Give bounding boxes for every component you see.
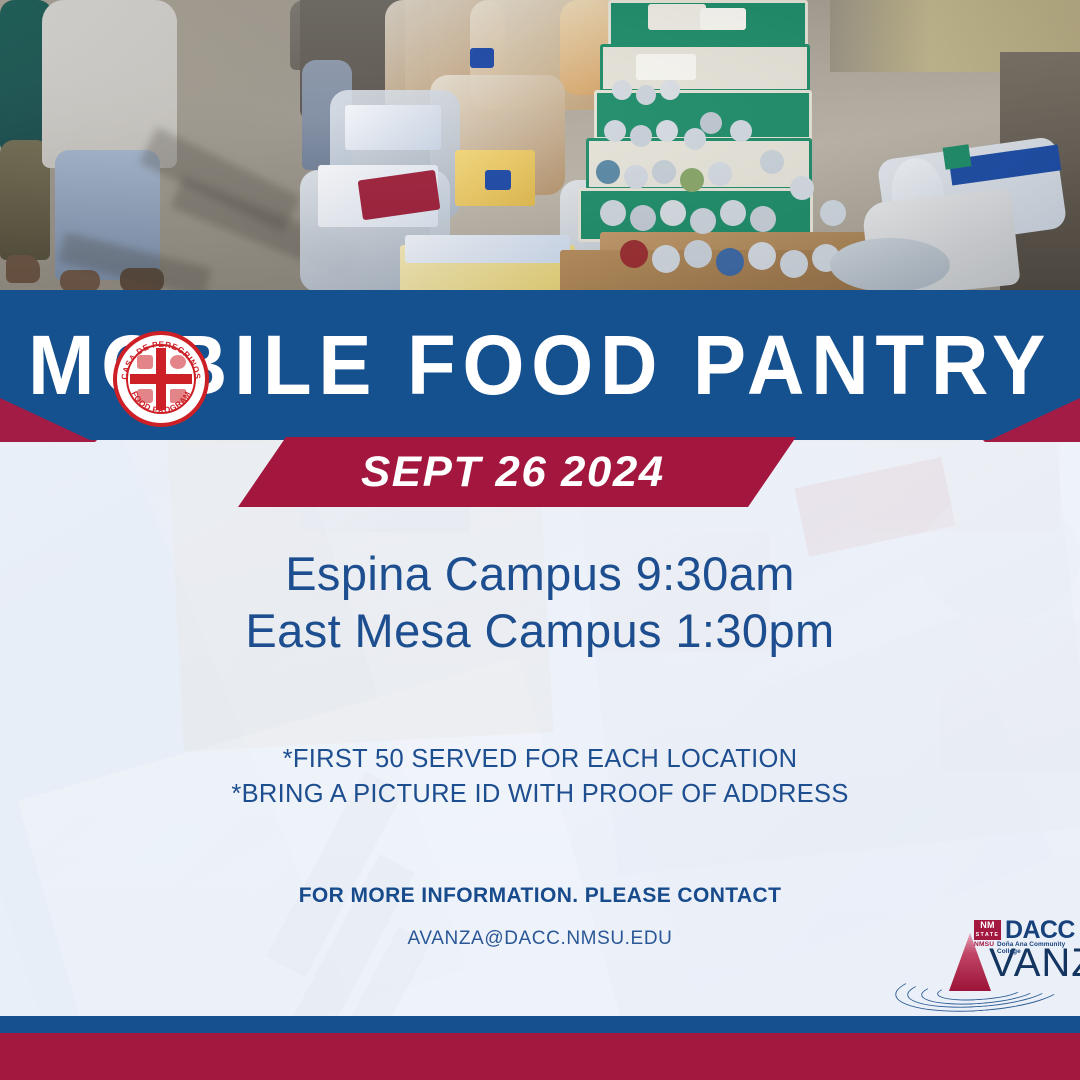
seal-bottom-text: FOOD PROGRAM [129, 390, 192, 415]
notes-list: *FIRST 50 SERVED FOR EACH LOCATION *BRIN… [0, 742, 1080, 811]
note-picture-id: *BRING A PICTURE ID WITH PROOF OF ADDRES… [0, 777, 1080, 812]
dacc-subtitle: Doña Ana Community College [997, 941, 1073, 955]
campus-schedule: Espina Campus 9:30am East Mesa Campus 1:… [0, 545, 1080, 660]
state-text: STATE [974, 931, 1001, 940]
svg-text:FOOD PROGRAM: FOOD PROGRAM [129, 390, 192, 415]
note-first-50: *FIRST 50 SERVED FOR EACH LOCATION [0, 742, 1080, 777]
seal-top-text: CASA DE PEREGRINOS [120, 340, 202, 380]
campus-line-espina: Espina Campus 9:30am [0, 545, 1080, 602]
date-banner: SEPT 26 2024 [238, 437, 796, 507]
campus-line-east-mesa: East Mesa Campus 1:30pm [0, 602, 1080, 659]
poster-flyer: MOBILE FOOD PANTRY CASA DE PEREGRINOS FO… [0, 0, 1080, 1080]
casa-de-peregrinos-seal-icon: CASA DE PEREGRINOS FOOD PROGRAM [113, 331, 209, 427]
avanza-dacc-logo: VANZA NM STATE DACC NMSU Doña Ana Commun… [893, 915, 1073, 1017]
nmsu-state-badge: NM STATE [974, 920, 1001, 940]
photo-vignette [0, 0, 1080, 292]
footer-bar-crimson [0, 1033, 1080, 1080]
nmsu-label: NMSU [974, 941, 994, 948]
seal-ring-text: CASA DE PEREGRINOS FOOD PROGRAM [117, 335, 205, 423]
top-photo-food-distribution [0, 0, 1080, 292]
nm-text: NM [980, 920, 994, 930]
svg-text:CASA DE PEREGRINOS: CASA DE PEREGRINOS [120, 340, 202, 380]
event-date: SEPT 26 2024 [361, 448, 665, 497]
footer-bar-navy [0, 1016, 1080, 1033]
contact-heading: FOR MORE INFORMATION. PLEASE CONTACT [0, 884, 1080, 908]
dacc-wordmark: DACC [1005, 918, 1075, 942]
